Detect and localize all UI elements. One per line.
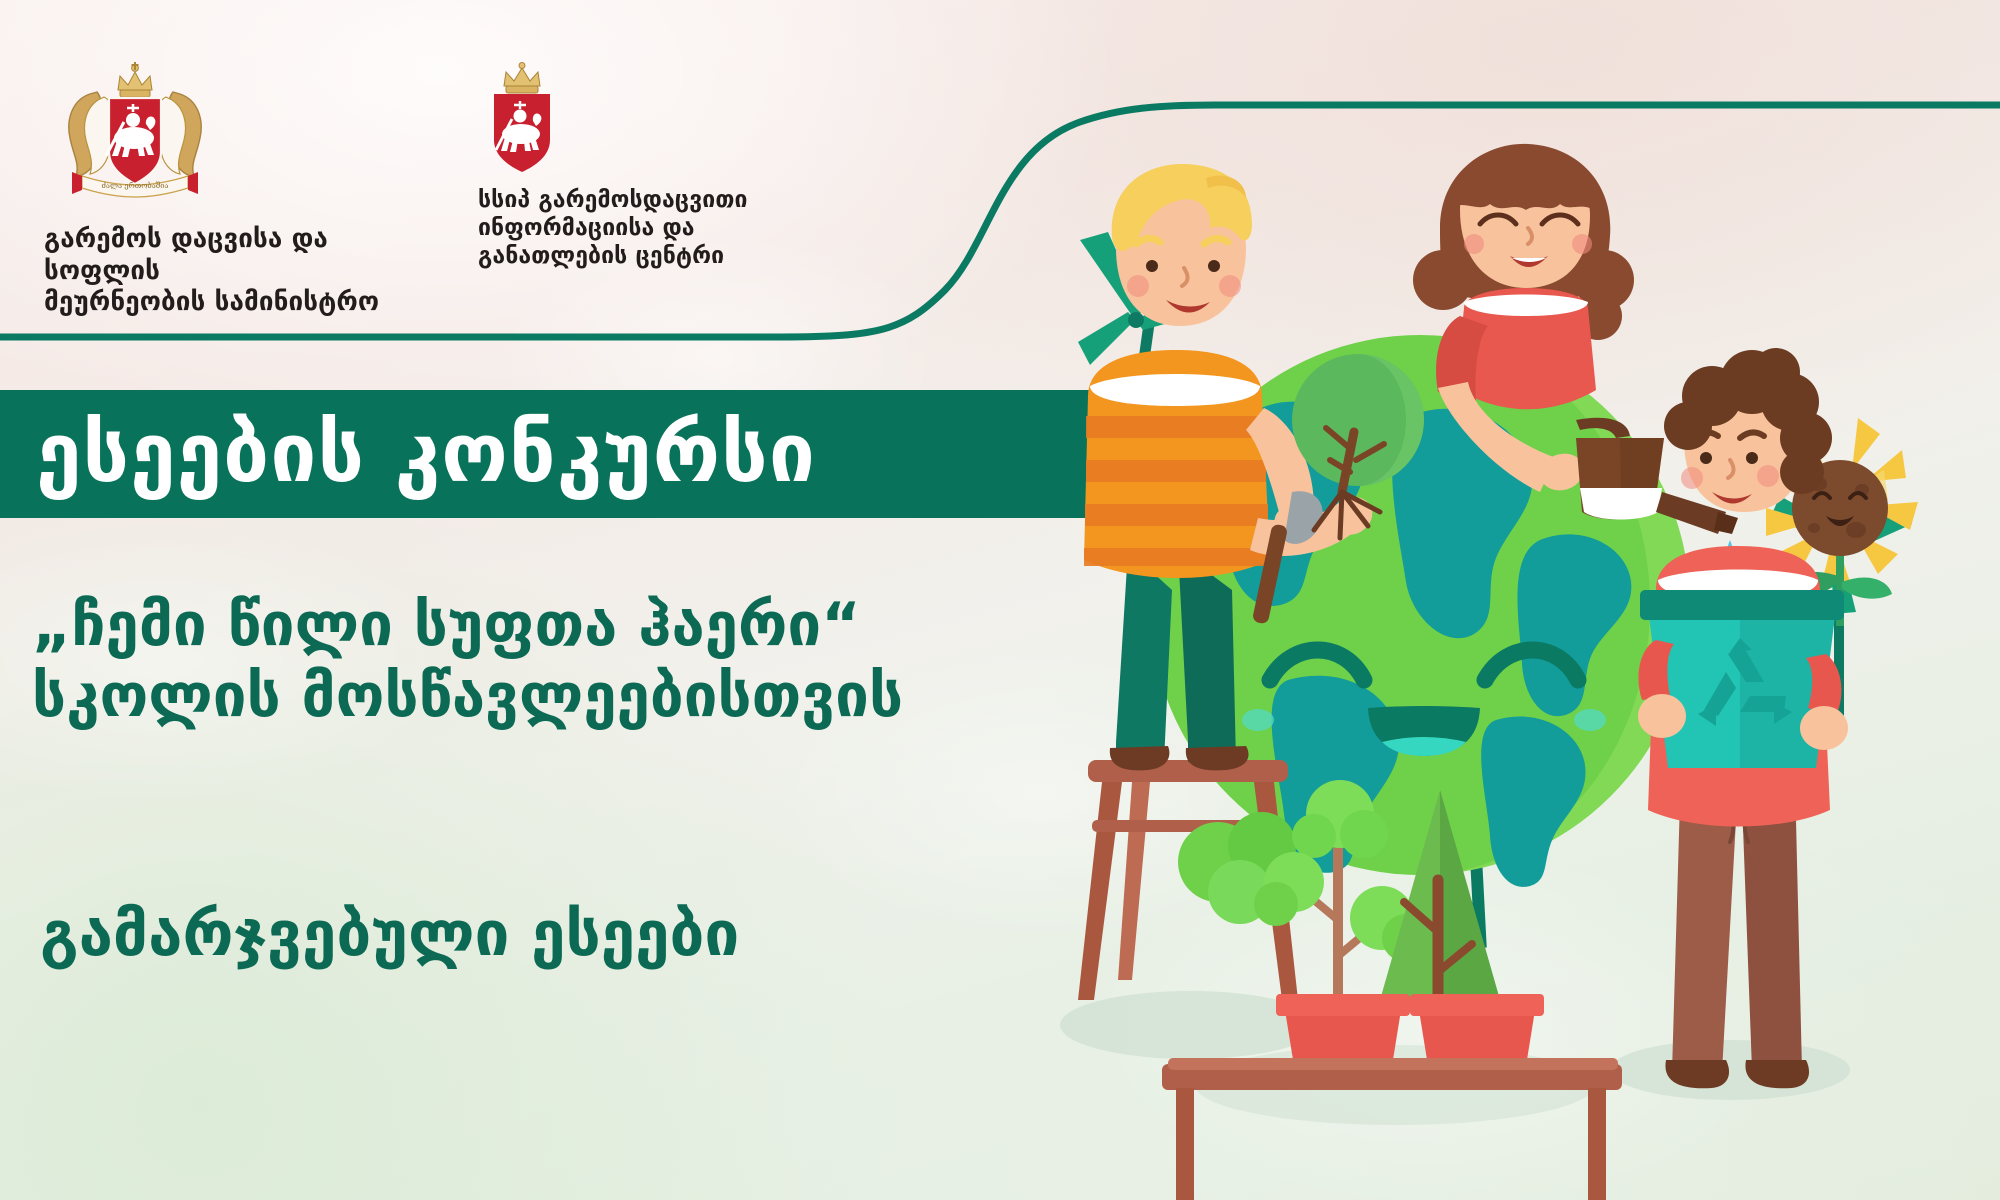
crown-icon — [118, 62, 152, 97]
georgia-coat-of-arms-icon: ძალა ერთობაშია — [50, 60, 220, 210]
center-logo-label: სსიპ გარემოსდაცვითი ინფორმაციისა და განა… — [478, 186, 748, 270]
flower-pot-right — [1410, 994, 1544, 1066]
children-caring-for-earth-illustration — [940, 120, 2000, 1200]
boy2-right-trousers — [1742, 800, 1802, 1070]
shadow-boy-right — [1610, 1040, 1850, 1100]
boy-holding-recycle-bin — [1638, 348, 1848, 1088]
georgia-shield-crest-icon — [478, 62, 566, 174]
boy-collar — [1090, 374, 1260, 406]
wooden-table — [1162, 1058, 1622, 1200]
crown-icon — [504, 63, 540, 94]
boy2-left-trousers — [1672, 800, 1736, 1072]
flower-pot-left — [1276, 994, 1410, 1066]
boy2-right-hand — [1800, 706, 1848, 750]
page-title: ესეების კონკურსი — [0, 413, 816, 495]
center-logo-block: სსიპ გარემოსდაცვითი ინფორმაციისა და განა… — [478, 62, 828, 270]
ministry-logo-label: გარემოს დაცვისა და სოფლის მეურნეობის სამ… — [44, 224, 410, 319]
svg-text:ძალა ერთობაშია: ძალა ერთობაშია — [102, 181, 169, 190]
hair-bun-left — [1413, 250, 1473, 310]
ministry-logo-block: ძალა ერთობაშია გარემოს დაცვისა და სოფლის… — [50, 60, 410, 319]
boy2-left-hand — [1638, 694, 1686, 738]
poster-canvas: ძალა ერთობაშია გარემოს დაცვისა და სოფლის… — [0, 0, 2000, 1200]
